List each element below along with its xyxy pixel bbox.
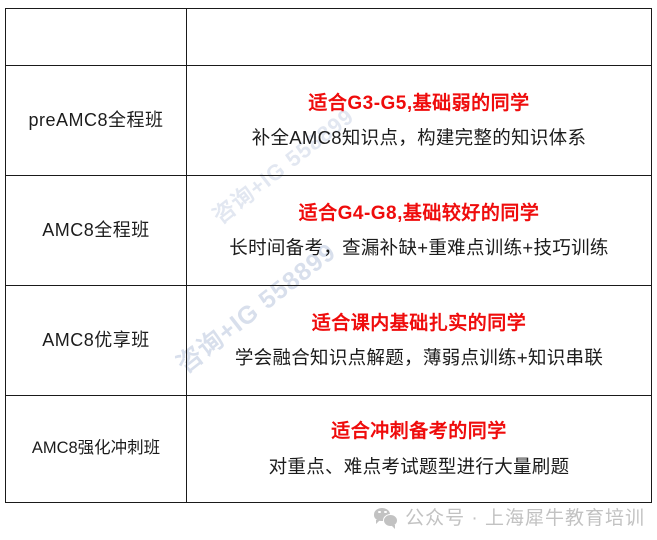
wechat-icon [374, 507, 398, 527]
table-header: 课程安排 适合人群 [6, 9, 652, 66]
table-row: AMC8全程班 适合G4-G8,基础较好的同学 长时间备考，查漏补缺+重难点训练… [6, 176, 652, 286]
target-headline: 适合冲刺备考的同学 [187, 417, 651, 446]
table-row: preAMC8全程班 适合G3-G5,基础弱的同学 补全AMC8知识点，构建完整… [6, 66, 652, 176]
target-detail: 补全AMC8知识点，构建完整的知识体系 [187, 124, 651, 152]
course-table-page: 咨询+IG 558899 咨询+IG 558899 课程安排 适合人群 preA… [0, 0, 657, 540]
table-row: AMC8强化冲刺班 适合冲刺备考的同学 对重点、难点考试题型进行大量刷题 [6, 396, 652, 503]
target-detail: 长时间备考，查漏补缺+重难点训练+技巧训练 [187, 234, 651, 262]
table-row: AMC8优享班 适合课内基础扎实的同学 学会融合知识点解题，薄弱点训练+知识串联 [6, 286, 652, 396]
target-detail: 对重点、难点考试题型进行大量刷题 [187, 453, 651, 481]
target-audience-cell: 适合课内基础扎实的同学 学会融合知识点解题，薄弱点训练+知识串联 [187, 286, 652, 396]
column-header-course: 课程安排 [6, 9, 187, 66]
course-name-cell: preAMC8全程班 [6, 66, 187, 176]
table-header-row: 课程安排 适合人群 [6, 9, 652, 66]
target-headline: 适合G4-G8,基础较好的同学 [187, 199, 651, 228]
target-audience-cell: 适合G3-G5,基础弱的同学 补全AMC8知识点，构建完整的知识体系 [187, 66, 652, 176]
target-detail: 学会融合知识点解题，薄弱点训练+知识串联 [187, 344, 651, 372]
column-header-target: 适合人群 [187, 9, 652, 66]
target-audience-cell: 适合冲刺备考的同学 对重点、难点考试题型进行大量刷题 [187, 396, 652, 503]
course-name-cell: AMC8优享班 [6, 286, 187, 396]
wechat-account-label: 公众号 · 上海犀牛教育培训 [405, 503, 645, 530]
wechat-account-credit: 公众号 · 上海犀牛教育培训 [374, 503, 645, 530]
course-name-cell: AMC8强化冲刺班 [6, 396, 187, 503]
course-table-wrapper: 课程安排 适合人群 preAMC8全程班 适合G3-G5,基础弱的同学 补全AM… [5, 8, 651, 503]
target-audience-cell: 适合G4-G8,基础较好的同学 长时间备考，查漏补缺+重难点训练+技巧训练 [187, 176, 652, 286]
course-name-cell: AMC8全程班 [6, 176, 187, 286]
target-headline: 适合G3-G5,基础弱的同学 [187, 89, 651, 118]
course-table: 课程安排 适合人群 preAMC8全程班 适合G3-G5,基础弱的同学 补全AM… [5, 8, 652, 503]
target-headline: 适合课内基础扎实的同学 [187, 309, 651, 338]
table-body: preAMC8全程班 适合G3-G5,基础弱的同学 补全AMC8知识点，构建完整… [6, 66, 652, 503]
